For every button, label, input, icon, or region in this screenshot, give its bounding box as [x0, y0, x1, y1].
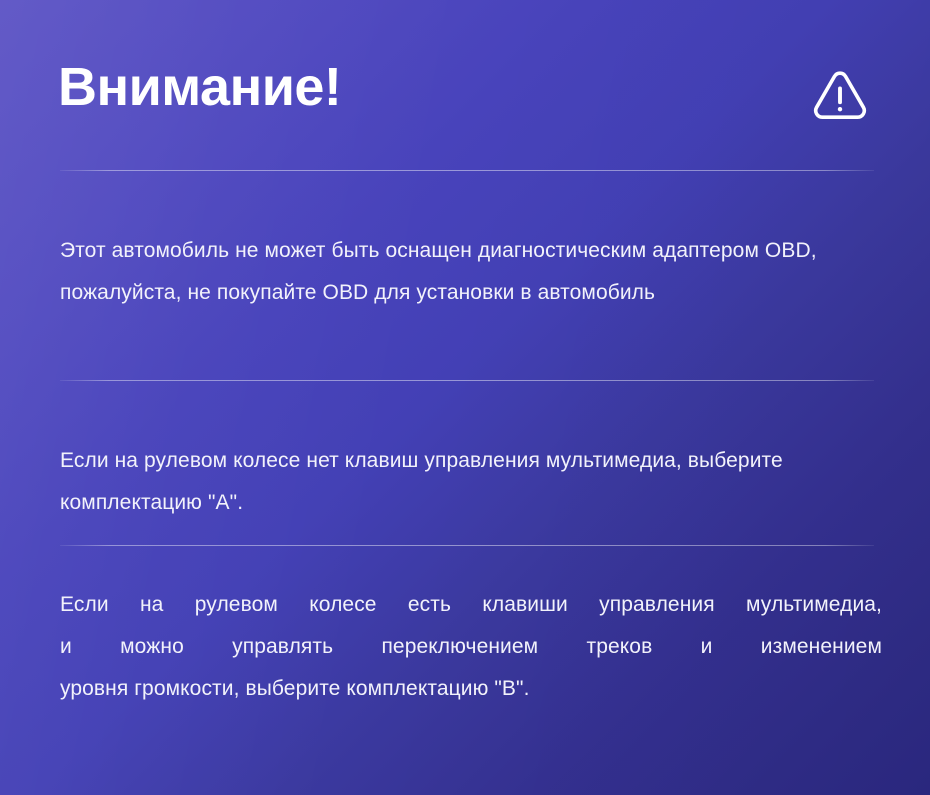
warning-notice-screen: Внимание! Этот автомобиль не может быть …: [0, 0, 930, 795]
section-divider-1: [60, 170, 874, 171]
paragraph-obd-warning: Этот автомобиль не может быть оснащен ди…: [60, 230, 878, 314]
paragraph-variant-a: Если на рулевом колесе нет клавиш управл…: [60, 440, 884, 524]
page-title: Внимание!: [58, 58, 341, 116]
paragraph-variant-b-line-1: Если на рулевом колесе есть клавиши упра…: [60, 584, 882, 626]
paragraph-variant-b-line-3: уровня громкости, выберите комплектацию …: [60, 668, 882, 710]
section-divider-2: [60, 380, 874, 381]
section-divider-3: [60, 545, 874, 546]
paragraph-variant-b: Если на рулевом колесе есть клавиши упра…: [60, 584, 882, 710]
paragraph-variant-b-line-2: и можно управлять переключением треков и…: [60, 626, 882, 668]
warning-triangle-icon: [812, 68, 868, 120]
